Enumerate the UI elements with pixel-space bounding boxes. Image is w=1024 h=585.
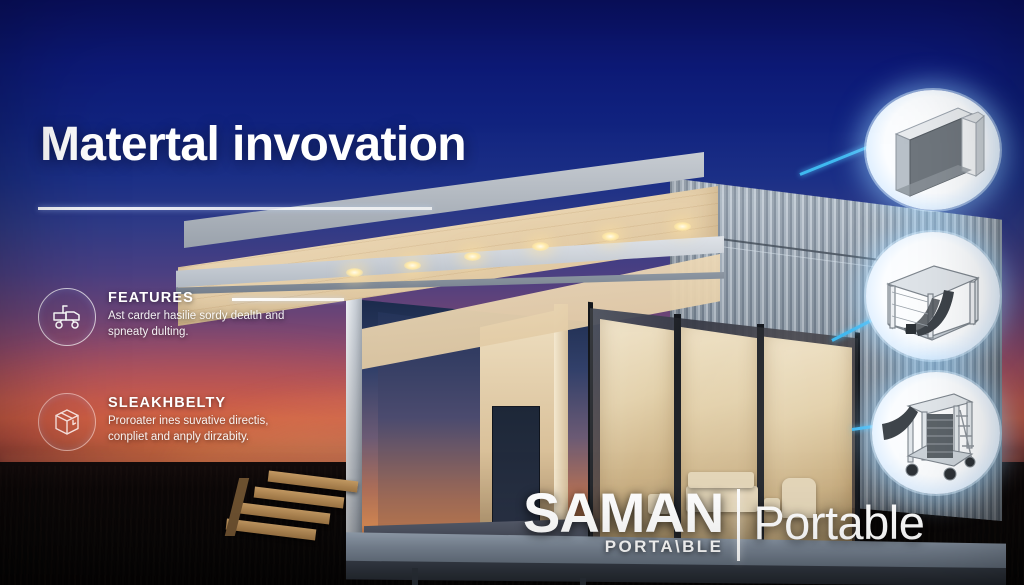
support-leg (412, 568, 418, 585)
ceiling-downlight (464, 252, 481, 261)
page-title: Matertal invovation (40, 117, 466, 172)
feature-item-features[interactable]: FEATURES Ast carder hasilie sordy dealth… (38, 288, 290, 346)
feature-title: SLEAKHBELTY (108, 395, 290, 411)
feature-body: Ast carder hasilie sordy dealth and spne… (108, 309, 290, 340)
feature-item-sleakhbelty[interactable]: SLEAKHBELTY Proroater ines suvative dire… (38, 393, 290, 451)
feature-body: Proroater ines suvative directis, conpli… (108, 414, 290, 445)
feature-text-block: FEATURES Ast carder hasilie sordy dealth… (108, 288, 290, 340)
ceiling-downlight (674, 222, 691, 231)
patio-column-shading (346, 294, 362, 544)
feature-title: FEATURES (108, 290, 290, 306)
callout-structural-frame-module[interactable] (866, 232, 1000, 360)
callout-wall-panel-cross-section[interactable] (866, 90, 1000, 210)
ceiling-downlight (346, 268, 363, 277)
ceiling-downlight (532, 242, 549, 251)
feature-text-block: SLEAKHBELTY Proroater ines suvative dire… (108, 393, 290, 445)
logo-divider (737, 489, 740, 561)
title-underline (38, 207, 432, 210)
callout-wheeled-cart-module[interactable] (872, 372, 1000, 494)
ceiling-downlight (602, 232, 619, 241)
support-leg (580, 578, 586, 585)
ceiling-downlight (404, 261, 421, 270)
package-box-icon (38, 393, 96, 451)
logo-left-group: SAMAN PORTA\BLE (523, 487, 723, 557)
poster-canvas: Matertal invovation FEATURES Ast carder … (0, 0, 1024, 585)
brand-logo: SAMAN PORTA\BLE Portable (523, 487, 924, 561)
truck-trailer-icon (38, 288, 96, 346)
logo-wordmark: SAMAN (523, 487, 723, 539)
logo-secondary-word: Portable (753, 487, 924, 559)
